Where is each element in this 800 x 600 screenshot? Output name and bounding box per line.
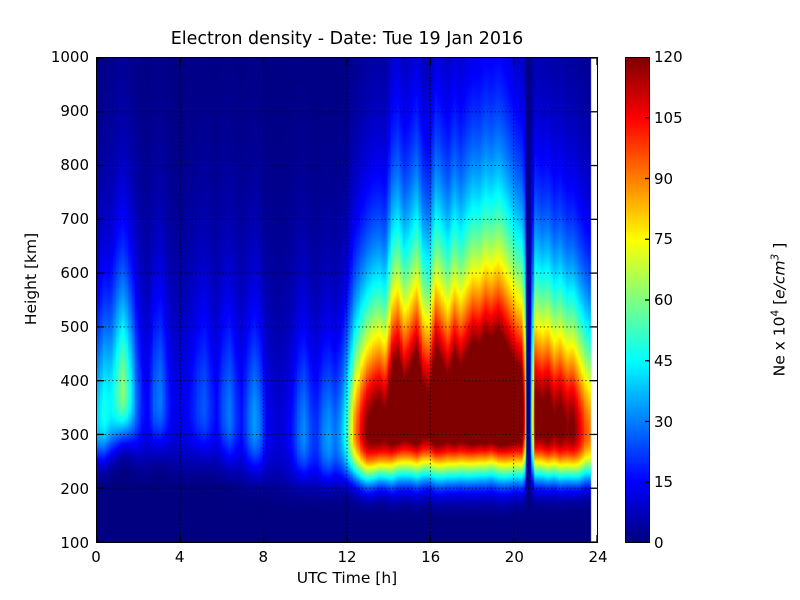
- colorbar-tick-60: 60: [654, 291, 673, 309]
- y-tick-800: 800: [60, 156, 89, 174]
- page-title: Electron density - Date: Tue 19 Jan 2016: [96, 29, 598, 49]
- y-tick-600: 600: [60, 264, 89, 282]
- y-axis-title: Height [km]: [22, 209, 40, 349]
- colorbar-tick-labels: 0153045607590105120: [654, 57, 694, 543]
- x-axis-title: UTC Time [h]: [96, 569, 598, 587]
- y-tick-200: 200: [60, 480, 89, 498]
- colorbar[interactable]: [625, 57, 650, 543]
- y-tick-500: 500: [60, 318, 89, 336]
- colorbar-tick-30: 30: [654, 413, 673, 431]
- electron-density-heatmap: [97, 58, 597, 542]
- colorbar-tick-120: 120: [654, 48, 683, 66]
- colorbar-tick-0: 0: [654, 534, 664, 552]
- x-tick-20: 20: [505, 548, 524, 566]
- x-tick-4: 4: [175, 548, 185, 566]
- heatmap-plot-area[interactable]: [96, 57, 598, 543]
- x-tick-0: 0: [91, 548, 101, 566]
- y-tick-1000: 1000: [51, 48, 89, 66]
- x-tick-24: 24: [588, 548, 607, 566]
- figure-canvas: Electron density - Date: Tue 19 Jan 2016…: [0, 0, 800, 600]
- colorbar-tick-15: 15: [654, 473, 673, 491]
- y-tick-100: 100: [60, 534, 89, 552]
- x-tick-12: 12: [337, 548, 356, 566]
- colorbar-units-italic: e/cm: [771, 260, 789, 298]
- colorbar-title-exponent: 4: [769, 310, 781, 317]
- colorbar-title: Ne x 104 [e/cm3 ]: [769, 160, 788, 460]
- x-tick-8: 8: [259, 548, 269, 566]
- x-axis-tick-labels: 04812162024: [96, 548, 598, 568]
- colorbar-title-prefix: Ne x 10: [771, 317, 789, 377]
- colorbar-tick-90: 90: [654, 170, 673, 188]
- colorbar-units-exponent: 3: [769, 254, 781, 261]
- colorbar-tick-45: 45: [654, 352, 673, 370]
- colorbar-units-open: [: [771, 299, 789, 310]
- colorbar-units-close: ]: [771, 243, 789, 254]
- colorbar-gradient: [626, 58, 649, 542]
- y-tick-300: 300: [60, 426, 89, 444]
- y-tick-400: 400: [60, 372, 89, 390]
- y-tick-900: 900: [60, 102, 89, 120]
- y-tick-700: 700: [60, 210, 89, 228]
- colorbar-tick-75: 75: [654, 230, 673, 248]
- colorbar-tick-105: 105: [654, 109, 683, 127]
- x-tick-16: 16: [421, 548, 440, 566]
